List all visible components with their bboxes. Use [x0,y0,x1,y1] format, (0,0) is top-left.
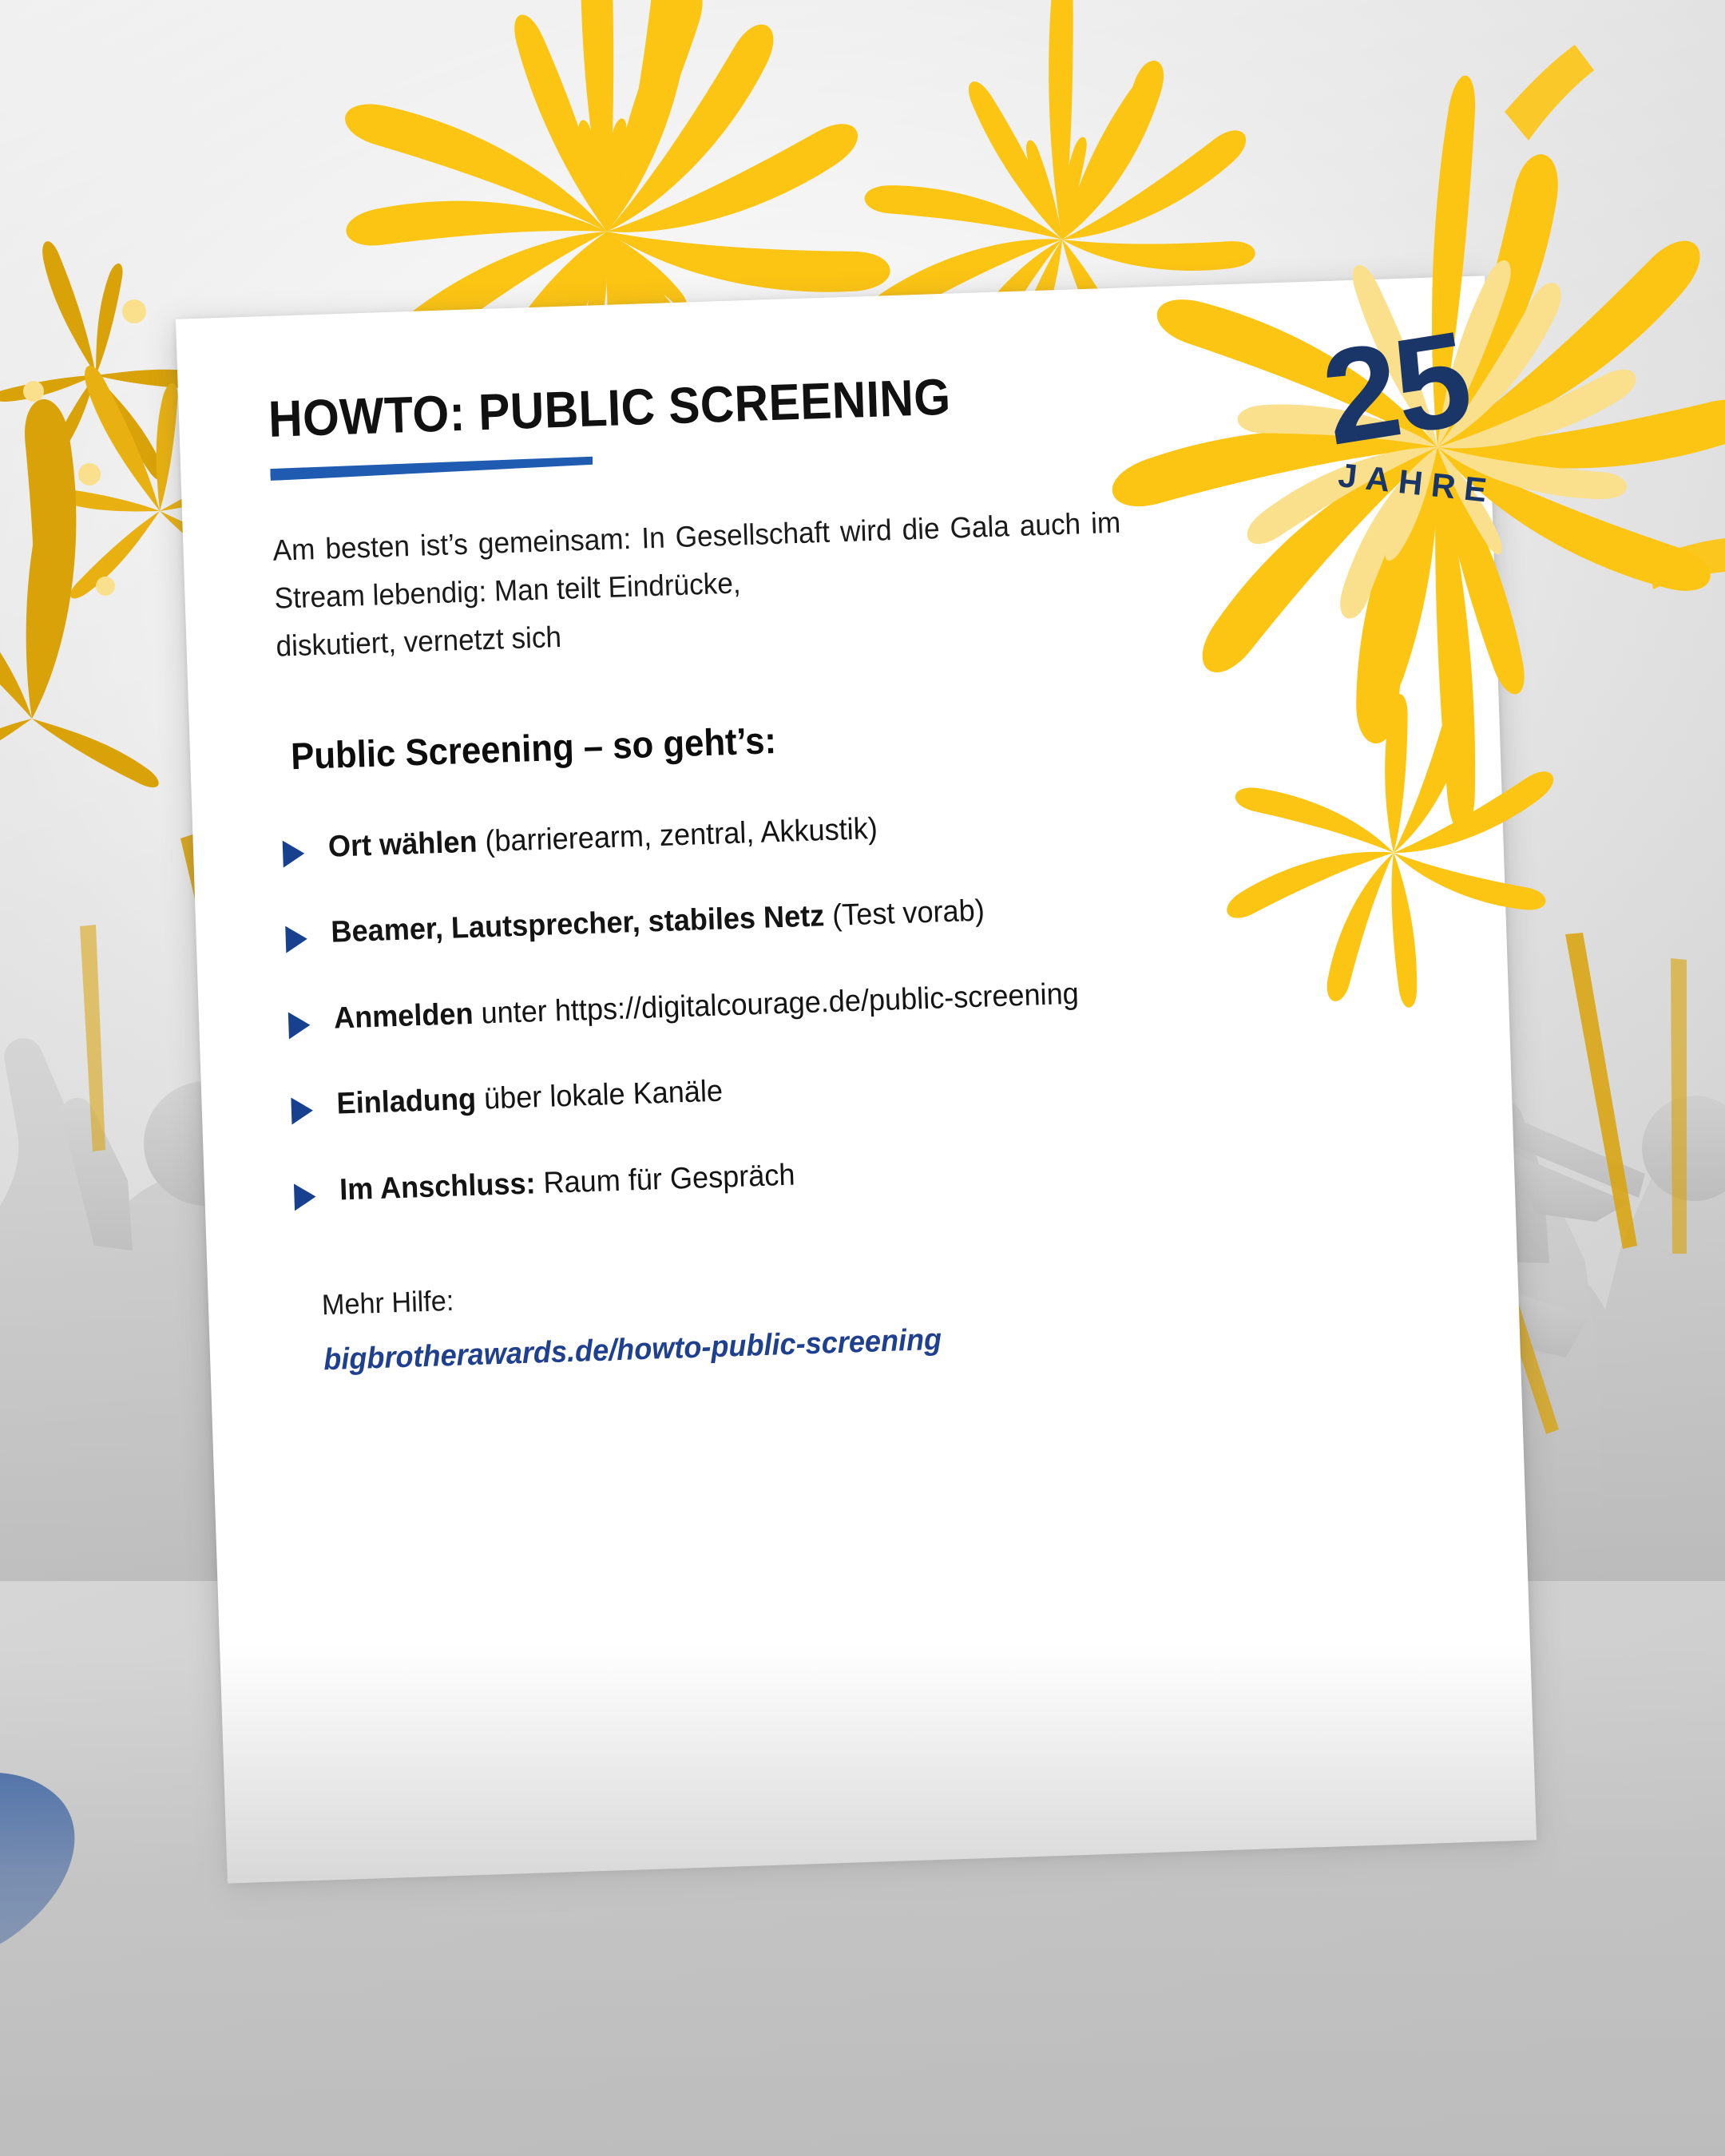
poster-canvas: HOWTO: PUBLIC SCREENING Am besten ist’s … [0,0,1725,2156]
firework-burst-icon-small [1227,693,1556,1009]
background-bottom-shade [0,1645,1725,2156]
firework-burst-icon-badge [1108,74,1725,833]
